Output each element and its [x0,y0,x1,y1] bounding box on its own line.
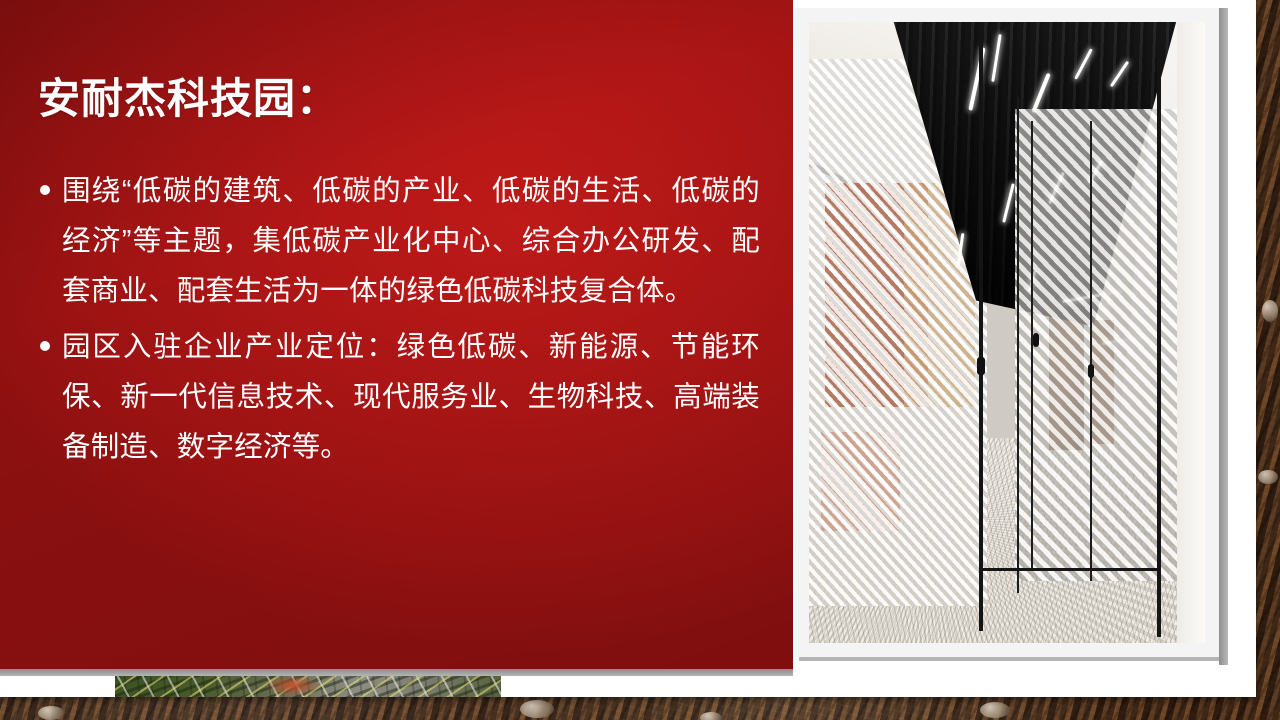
photo-door-handle [1033,333,1039,347]
photo-door-handle [1088,364,1094,378]
photo-glass-rail [979,568,1161,571]
photo-glass-mullion [979,34,983,630]
photo-right-pillar [1177,22,1205,643]
bullet-dot-icon [40,185,50,195]
photo-frame [795,8,1219,657]
photo-frame-shadow [1219,8,1228,665]
photo-glass-mullion [1157,22,1161,637]
list-item: 围绕“低碳的建筑、低碳的产业、低碳的生活、低碳的经济”等主题，集低碳产业化中心、… [36,166,760,316]
aerial-photo [115,676,501,697]
bullet-list: 围绕“低碳的建筑、低碳的产业、低碳的生活、低碳的经济”等主题，集低碳产业化中心、… [36,166,760,478]
list-item-text: 围绕“低碳的建筑、低碳的产业、低碳的生活、低碳的经济”等主题，集低碳产业化中心、… [62,175,760,307]
corridor-photo [809,22,1205,643]
slide-canvas: 安耐杰科技园： 围绕“低碳的建筑、低碳的产业、低碳的生活、低碳的经济”等主题，集… [0,0,1256,697]
page-title: 安耐杰科技园： [38,74,339,124]
aerial-photo-detail [115,676,501,697]
photo-glass-mullion [1090,121,1092,581]
list-item: 园区入驻企业产业定位：绿色低碳、新能源、节能环保、新一代信息技术、现代服务业、生… [36,322,760,472]
red-panel-dropshadow [0,669,793,676]
photo-door-handle [977,357,985,375]
list-item-text: 园区入驻企业产业定位：绿色低碳、新能源、节能环保、新一代信息技术、现代服务业、生… [62,331,760,463]
bullet-dot-icon [40,341,50,351]
photo-glass-mullion [1017,97,1019,594]
